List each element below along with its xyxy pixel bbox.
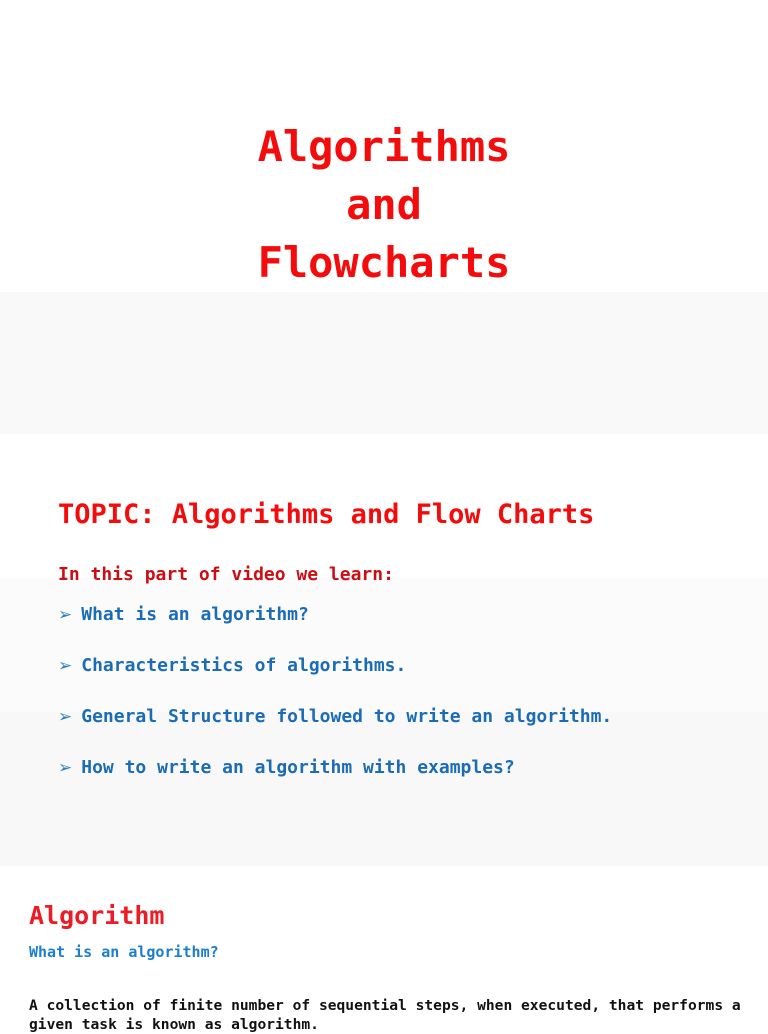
algorithm-definition-text: A collection of finite number of sequent… bbox=[29, 996, 743, 1034]
topic-heading: TOPIC: Algorithms and Flow Charts bbox=[58, 498, 594, 532]
list-item: ➢Characteristics of algorithms. bbox=[58, 653, 718, 679]
agenda-bullet-list: ➢What is an algorithm? ➢Characteristics … bbox=[58, 602, 718, 781]
arrow-bullet-icon: ➢ bbox=[58, 758, 72, 778]
arrow-bullet-icon: ➢ bbox=[58, 605, 72, 625]
topic-subheading: In this part of video we learn: bbox=[58, 563, 394, 587]
list-item-label: What is an algorithm? bbox=[81, 604, 309, 625]
list-item-label: Characteristics of algorithms. bbox=[81, 655, 406, 676]
deck-title-line-3: Flowcharts bbox=[0, 234, 768, 292]
algorithm-question: What is an algorithm? bbox=[29, 942, 219, 962]
list-item-label: General Structure followed to write an a… bbox=[81, 706, 612, 727]
title-slide-blank-band bbox=[0, 292, 768, 434]
arrow-bullet-icon: ➢ bbox=[58, 656, 72, 676]
slide-algorithm-section: Algorithm What is an algorithm? A collec… bbox=[0, 866, 768, 1024]
algorithm-heading: Algorithm bbox=[29, 901, 164, 931]
list-item-label: How to write an algorithm with examples? bbox=[81, 757, 514, 778]
slide-title-section: Algorithms and Flowcharts bbox=[0, 0, 768, 292]
slide-topic-section: TOPIC: Algorithms and Flow Charts In thi… bbox=[0, 434, 768, 866]
deck-title-line-2: and bbox=[0, 176, 768, 234]
deck-title-line-1: Algorithms bbox=[0, 118, 768, 176]
list-item: ➢How to write an algorithm with examples… bbox=[58, 755, 718, 781]
list-item: ➢General Structure followed to write an … bbox=[58, 704, 718, 730]
arrow-bullet-icon: ➢ bbox=[58, 707, 72, 727]
deck-title: Algorithms and Flowcharts bbox=[0, 118, 768, 292]
list-item: ➢What is an algorithm? bbox=[58, 602, 718, 628]
slide-deck-page: Algorithms and Flowcharts TOPIC: Algorit… bbox=[0, 0, 768, 1024]
